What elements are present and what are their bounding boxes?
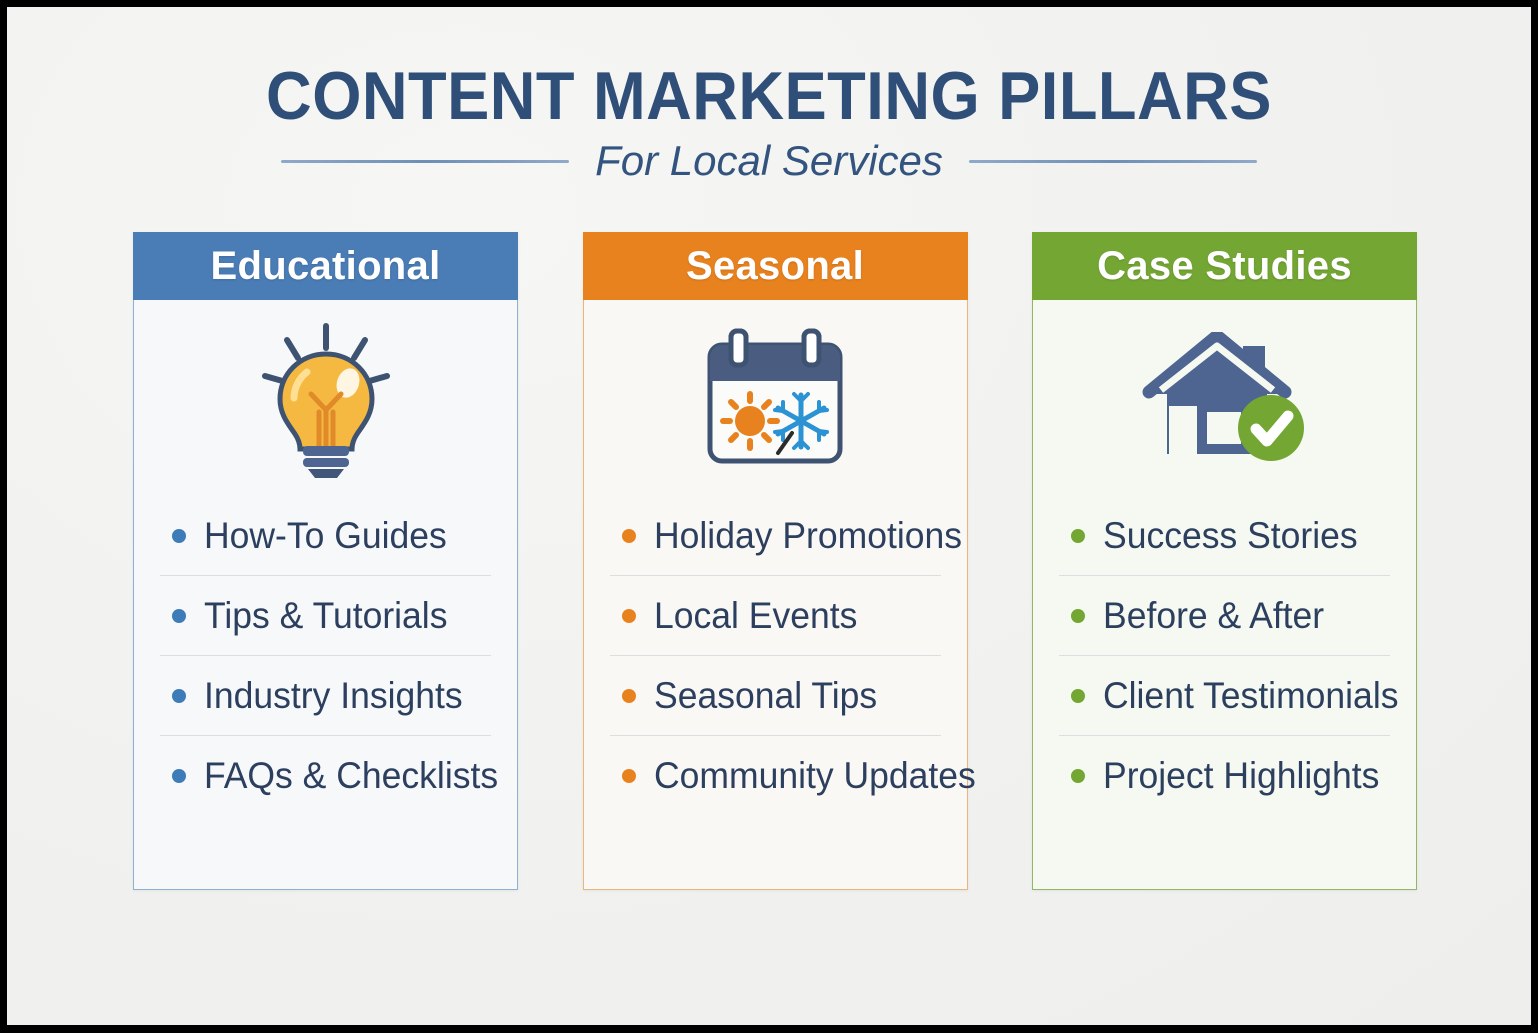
lightbulb-icon [251, 318, 401, 478]
list-item[interactable]: Client Testimonials [1059, 656, 1390, 736]
list-item-label: Seasonal Tips [654, 676, 877, 716]
page-subtitle: For Local Services [569, 135, 969, 187]
pillar-card-group: Educational [133, 232, 1417, 890]
bullet-icon [1071, 609, 1085, 623]
divider-rule-right [969, 160, 1257, 163]
card-header-seasonal: Seasonal [583, 232, 968, 300]
bullet-icon [1071, 689, 1085, 703]
list-item[interactable]: Tips & Tutorials [160, 576, 491, 656]
list-item[interactable]: Local Events [610, 576, 941, 656]
slide-canvas: CONTENT MARKETING PILLARS For Local Serv… [7, 7, 1531, 1025]
list-item-label: Industry Insights [204, 676, 463, 716]
bullet-icon [622, 769, 636, 783]
icon-area-educational [134, 300, 517, 496]
page-title: CONTENT MARKETING PILLARS [60, 59, 1477, 133]
list-item[interactable]: Holiday Promotions [610, 496, 941, 576]
list-item-label: Client Testimonials [1103, 676, 1398, 716]
pillar-card-educational[interactable]: Educational [133, 232, 518, 890]
bullet-icon [172, 609, 186, 623]
icon-area-case-studies [1033, 300, 1416, 496]
list-item[interactable]: Community Updates [610, 736, 941, 816]
list-item[interactable]: Industry Insights [160, 656, 491, 736]
list-item-label: Success Stories [1103, 516, 1358, 556]
card-body-educational: How-To Guides Tips & Tutorials Industry … [133, 300, 518, 890]
video-frame: CONTENT MARKETING PILLARS For Local Serv… [0, 0, 1538, 1033]
list-item-label: Before & After [1103, 596, 1324, 636]
bullet-icon [172, 689, 186, 703]
list-item-label: How-To Guides [204, 516, 447, 556]
pillar-card-case-studies[interactable]: Case Studies [1032, 232, 1417, 890]
list-item[interactable]: Before & After [1059, 576, 1390, 656]
calendar-season-icon [700, 325, 850, 471]
bullet-icon [172, 529, 186, 543]
item-list-seasonal: Holiday Promotions Local Events Seasonal… [610, 496, 941, 816]
card-header-case-studies: Case Studies [1032, 232, 1417, 300]
card-body-case-studies: Success Stories Before & After Client Te… [1032, 300, 1417, 890]
subtitle-block: For Local Services [7, 135, 1531, 187]
list-item[interactable]: FAQs & Checklists [160, 736, 491, 816]
list-item-label: FAQs & Checklists [204, 756, 498, 796]
pillar-card-seasonal[interactable]: Seasonal [583, 232, 968, 890]
card-body-seasonal: Holiday Promotions Local Events Seasonal… [583, 300, 968, 890]
list-item-label: Community Updates [654, 756, 976, 796]
list-item-label: Holiday Promotions [654, 516, 962, 556]
title-block: CONTENT MARKETING PILLARS [7, 59, 1531, 133]
bullet-icon [622, 529, 636, 543]
bullet-icon [1071, 529, 1085, 543]
bullet-icon [1071, 769, 1085, 783]
bullet-icon [172, 769, 186, 783]
house-check-icon [1139, 332, 1311, 464]
list-item[interactable]: How-To Guides [160, 496, 491, 576]
bullet-icon [622, 609, 636, 623]
list-item-label: Local Events [654, 596, 857, 636]
card-header-educational: Educational [133, 232, 518, 300]
bullet-icon [622, 689, 636, 703]
list-item[interactable]: Project Highlights [1059, 736, 1390, 816]
divider-rule-left [281, 160, 569, 163]
list-item[interactable]: Success Stories [1059, 496, 1390, 576]
list-item-label: Tips & Tutorials [204, 596, 447, 636]
item-list-educational: How-To Guides Tips & Tutorials Industry … [160, 496, 491, 816]
item-list-case-studies: Success Stories Before & After Client Te… [1059, 496, 1390, 816]
list-item[interactable]: Seasonal Tips [610, 656, 941, 736]
list-item-label: Project Highlights [1103, 756, 1379, 796]
icon-area-seasonal [584, 300, 967, 496]
